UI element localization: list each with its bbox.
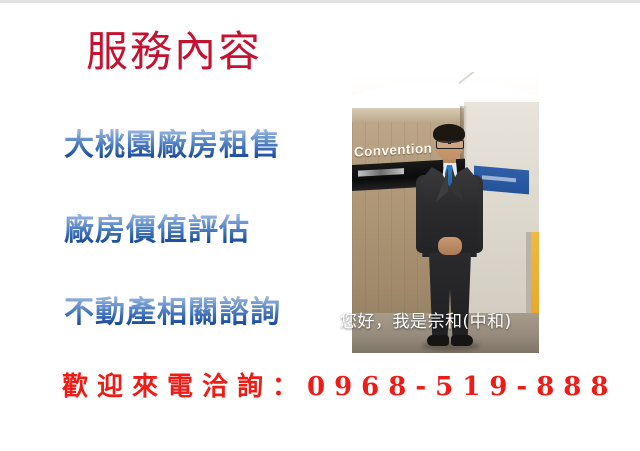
photo-caption: 您好，我是宗和(中和): [340, 307, 512, 332]
right-shoe: [451, 335, 473, 346]
eyeglasses: [436, 140, 464, 149]
clasped-hands: [438, 237, 462, 255]
wood-wall-top-edge: [352, 108, 464, 122]
service-item-2: 廠房價值評估: [64, 214, 250, 249]
page-title: 服務內容: [86, 28, 262, 76]
service-item-3: 不動產相關諮詢: [64, 296, 281, 331]
top-divider: [0, 0, 640, 3]
contact-phone-line: 歡迎來電洽詢：0968-519-888: [62, 372, 618, 403]
presentation-slide: 服務內容 大桃園廠房租售 廠房價值評估 不動產相關諮詢 Convention C…: [0, 0, 640, 451]
left-shoe: [427, 335, 449, 346]
service-item-1: 大桃園廠房租售: [64, 129, 281, 164]
